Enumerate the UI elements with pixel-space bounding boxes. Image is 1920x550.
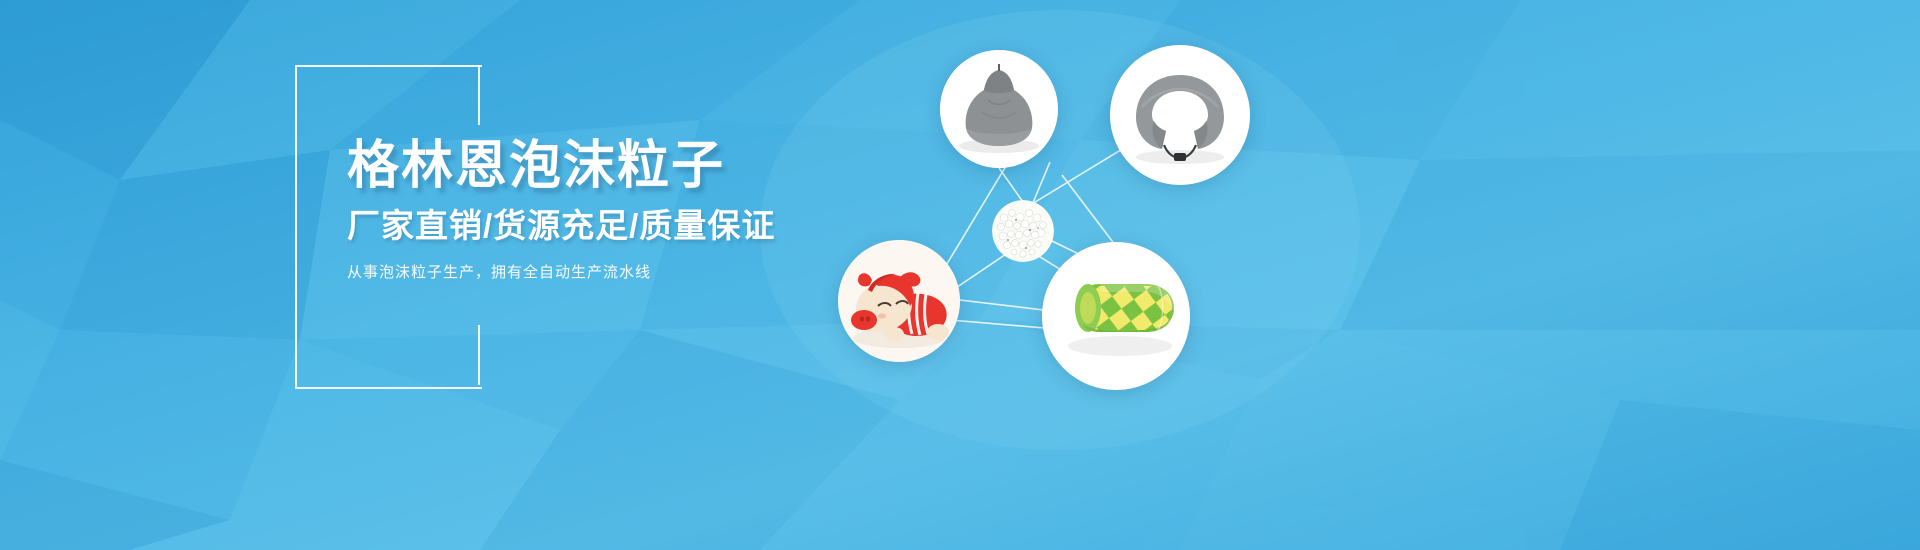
product-neck-pillow[interactable] xyxy=(1110,45,1250,185)
pig-plush-image xyxy=(838,240,960,362)
product-foam-particles[interactable] xyxy=(992,200,1054,262)
product-bolster-cushion[interactable] xyxy=(1042,242,1190,390)
bracket-right-top-segment xyxy=(478,65,480,125)
hero-banner: 格林恩泡沫粒子 厂家直销/货源充足/质量保证 从事泡沫粒子生产，拥有全自动生产流… xyxy=(0,0,1920,550)
page-title: 格林恩泡沫粒子 xyxy=(347,138,867,194)
product-beanbag-chair[interactable] xyxy=(940,50,1058,168)
headline-group: 格林恩泡沫粒子 厂家直销/货源充足/质量保证 从事泡沫粒子生产，拥有全自动生产流… xyxy=(347,138,867,283)
product-cluster xyxy=(810,0,1370,550)
bracket-right-bottom-segment xyxy=(478,325,480,385)
description-text: 从事泡沫粒子生产，拥有全自动生产流水线 xyxy=(347,262,867,283)
neck-pillow-image xyxy=(1110,45,1250,185)
subtitle-slogan: 厂家直销/货源充足/质量保证 xyxy=(347,208,867,244)
bolster-cushion-image xyxy=(1042,242,1190,390)
beanbag-image xyxy=(940,50,1058,168)
product-pig-plush-pillow[interactable] xyxy=(838,240,960,362)
foam-particles-image xyxy=(992,200,1054,262)
